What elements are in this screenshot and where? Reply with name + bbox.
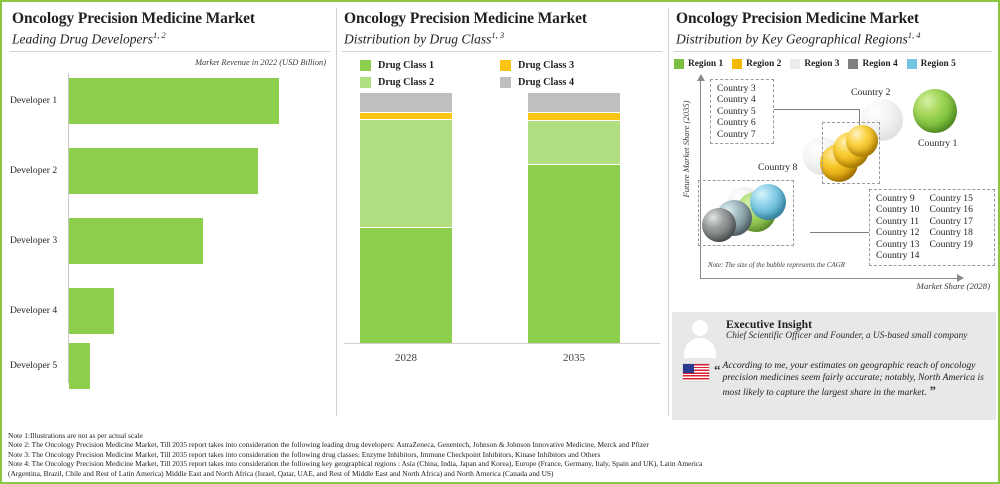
legend-label-drug-class-2: Drug Class 2 xyxy=(378,77,434,88)
bubble-country-1-region-1 xyxy=(913,89,957,133)
slide-root: Oncology Precision Medicine Market Leadi… xyxy=(0,0,1000,484)
legend-label-drug-class-3: Drug Class 3 xyxy=(518,60,574,71)
leader-line-bottom-horizontal xyxy=(810,232,870,233)
legend-label-region-4: Region 4 xyxy=(862,59,897,69)
bar-developer-2 xyxy=(69,148,258,194)
stacked-bar-2028 xyxy=(360,93,452,343)
stacked-bar-chart: 2028 2035 xyxy=(338,94,668,366)
dashbox-lower-cluster xyxy=(698,180,794,246)
executive-insight-subtitle: Chief Scientific Officer and Founder, a … xyxy=(726,331,967,342)
panel1-subtitle-text: Leading Drug Developers xyxy=(12,32,153,47)
avatar-icon xyxy=(680,318,720,358)
executive-insight-title: Executive Insight xyxy=(726,318,967,331)
us-flag-icon xyxy=(682,363,710,382)
bubble-chart-y-axis-label: Future Market Share (2035) xyxy=(681,89,691,209)
footnote-3: Note 3: The Oncology Precision Medicine … xyxy=(8,450,992,459)
executive-insight-text-block: Executive Insight Chief Scientific Offic… xyxy=(726,318,967,358)
dashbox-region-2-cluster xyxy=(822,122,880,184)
leader-line-top-horizontal xyxy=(774,109,860,110)
bubble-label-country-1: Country 1 xyxy=(918,138,957,149)
quote-close-icon: ” xyxy=(929,383,936,398)
segment-2028-drug-class-2 xyxy=(360,120,452,228)
legend-item-region-1[interactable]: Region 1 xyxy=(674,59,723,69)
footnotes: Note 1:Illustrations are not as per actu… xyxy=(8,431,992,478)
callout-line-country-7: Country 7 xyxy=(717,129,767,141)
stacked-bar-2035 xyxy=(528,93,620,343)
quote-open-icon: “ xyxy=(714,362,721,399)
panel-leading-drug-developers: Oncology Precision Medicine Market Leadi… xyxy=(6,6,336,418)
bar-developer-5 xyxy=(69,343,90,389)
legend-item-drug-class-4[interactable]: Drug Class 4 xyxy=(500,77,640,88)
panel3-subtitle: Distribution by Key Geographical Regions… xyxy=(676,28,998,47)
panel1-title: Oncology Precision Medicine Market xyxy=(12,10,336,27)
callout-column-left: Country 9 Country 10 Country 11 Country … xyxy=(876,193,919,263)
legend-swatch-icon-drug-class-2 xyxy=(360,77,371,88)
panel3-subtitle-superscript: 1, 4 xyxy=(908,30,921,40)
legend-item-region-5[interactable]: Region 5 xyxy=(907,59,956,69)
bar-chart-axis-note: Market Revenue in 2022 (USD Billion) xyxy=(195,58,326,67)
avatar-head-shape xyxy=(692,320,708,336)
panel3-subtitle-text: Distribution by Key Geographical Regions xyxy=(676,32,908,47)
bar-developer-4 xyxy=(69,288,114,334)
panel3-title: Oncology Precision Medicine Market xyxy=(676,10,998,27)
callout-line-country-10: Country 10 xyxy=(876,204,919,216)
legend-swatch-icon-region-4 xyxy=(848,59,858,69)
legend-label-region-5: Region 5 xyxy=(921,59,956,69)
callout-line-country-9: Country 9 xyxy=(876,193,919,205)
legend-swatch-icon-drug-class-3 xyxy=(500,60,511,71)
callout-line-country-13: Country 13 xyxy=(876,239,919,251)
callout-line-country-12: Country 12 xyxy=(876,227,919,239)
avatar-body-shape xyxy=(684,338,716,358)
legend-row-2: Drug Class 2 Drug Class 4 xyxy=(360,77,650,88)
legend-row-1: Drug Class 1 Drug Class 3 xyxy=(360,60,650,71)
bubble-chart-regions: Future Market Share (2035) Market Share … xyxy=(670,72,998,300)
callout-line-country-16: Country 16 xyxy=(929,204,972,216)
panel2-rule xyxy=(342,51,662,52)
bar-label-developer-4: Developer 4 xyxy=(10,288,66,334)
legend-swatch-icon-drug-class-1 xyxy=(360,60,371,71)
legend-item-region-2[interactable]: Region 2 xyxy=(732,59,781,69)
x-label-2028: 2028 xyxy=(360,352,452,364)
panel1-rule xyxy=(10,51,330,52)
executive-insight-quote-row: “ According to me, your estimates on geo… xyxy=(672,358,996,399)
callout-column-right: Country 15 Country 16 Country 17 Country… xyxy=(929,193,972,263)
legend-item-drug-class-3[interactable]: Drug Class 3 xyxy=(500,60,640,71)
legend-label-region-1: Region 1 xyxy=(688,59,723,69)
stacked-chart-baseline xyxy=(344,343,660,344)
panel1-subtitle-superscript: 1, 2 xyxy=(153,30,166,40)
bar-label-developer-5: Developer 5 xyxy=(10,343,66,389)
segment-2028-drug-class-3 xyxy=(360,113,452,120)
bubble-label-country-8: Country 8 xyxy=(758,162,797,173)
panel1-subtitle: Leading Drug Developers1, 2 xyxy=(12,28,336,47)
bar-chart-developers: Market Revenue in 2022 (USD Billion) Dev… xyxy=(6,56,336,386)
panel-distribution-by-drug-class: Oncology Precision Medicine Market Distr… xyxy=(338,6,668,418)
executive-insight-panel: Executive Insight Chief Scientific Offic… xyxy=(672,312,996,420)
panel3-rule xyxy=(674,51,992,52)
legend-item-drug-class-2[interactable]: Drug Class 2 xyxy=(360,77,500,88)
callout-line-country-5: Country 5 xyxy=(717,106,767,118)
footnote-4: Note 4: The Oncology Precision Medicine … xyxy=(8,459,992,468)
bubble-chart-x-axis-label: Market Share (2028) xyxy=(917,281,990,291)
legend-swatch-icon-region-2 xyxy=(732,59,742,69)
callout-countries-9-19: Country 9 Country 10 Country 11 Country … xyxy=(869,189,995,267)
legend-label-drug-class-1: Drug Class 1 xyxy=(378,60,434,71)
panel2-title: Oncology Precision Medicine Market xyxy=(344,10,668,27)
bubble-label-country-2: Country 2 xyxy=(851,87,890,98)
quote-body: According to me, your estimates on geogr… xyxy=(723,360,984,398)
segment-2028-drug-class-4 xyxy=(360,93,452,113)
panel2-subtitle-text: Distribution by Drug Class xyxy=(344,32,491,47)
footnote-1: Note 1:Illustrations are not as per actu… xyxy=(8,431,992,440)
bar-developer-3 xyxy=(69,218,203,264)
executive-insight-quote: According to me, your estimates on geogr… xyxy=(723,360,989,399)
legend-swatch-icon-region-5 xyxy=(907,59,917,69)
footnote-2: Note 2: The Oncology Precision Medicine … xyxy=(8,440,992,449)
callout-line-country-11: Country 11 xyxy=(876,216,919,228)
legend-label-region-2: Region 2 xyxy=(746,59,781,69)
callout-line-country-18: Country 18 xyxy=(929,227,972,239)
segment-2035-drug-class-2 xyxy=(528,121,620,165)
column-divider-2 xyxy=(668,8,669,416)
bubble-chart-x-axis xyxy=(700,278,958,279)
legend-item-drug-class-1[interactable]: Drug Class 1 xyxy=(360,60,500,71)
legend-label-region-3: Region 3 xyxy=(804,59,839,69)
drug-class-legend: Drug Class 1 Drug Class 3 Drug Class 2 D… xyxy=(360,60,650,88)
panel2-subtitle-superscript: 1, 3 xyxy=(491,30,504,40)
bar-label-developer-3: Developer 3 xyxy=(10,218,66,264)
callout-line-country-3: Country 3 xyxy=(717,83,767,95)
legend-item-region-3[interactable]: Region 3 xyxy=(790,59,839,69)
legend-label-drug-class-4: Drug Class 4 xyxy=(518,77,574,88)
bar-label-developer-1: Developer 1 xyxy=(10,78,66,124)
bubble-chart-note: Note: The size of the bubble represents … xyxy=(708,262,845,269)
segment-2035-drug-class-1 xyxy=(528,165,620,343)
segment-2035-drug-class-4 xyxy=(528,93,620,113)
callout-line-country-6: Country 6 xyxy=(717,117,767,129)
flag-canton xyxy=(683,364,694,373)
legend-swatch-icon-region-1 xyxy=(674,59,684,69)
footnote-4-continued: (Argentina, Brazil, Chile and Rest of La… xyxy=(8,469,992,478)
x-label-2035: 2035 xyxy=(528,352,620,364)
segment-2028-drug-class-1 xyxy=(360,228,452,343)
segment-2035-drug-class-3 xyxy=(528,113,620,121)
legend-item-region-4[interactable]: Region 4 xyxy=(848,59,897,69)
legend-swatch-icon-region-3 xyxy=(790,59,800,69)
callout-line-country-15: Country 15 xyxy=(929,193,972,205)
bar-label-developer-2: Developer 2 xyxy=(10,148,66,194)
region-legend: Region 1 Region 2 Region 3 Region 4 Regi… xyxy=(674,59,998,69)
panel2-subtitle: Distribution by Drug Class1, 3 xyxy=(344,28,668,47)
callout-line-country-4: Country 4 xyxy=(717,94,767,106)
callout-countries-3-7: Country 3 Country 4 Country 5 Country 6 … xyxy=(710,79,774,145)
bubble-chart-y-axis xyxy=(700,80,701,278)
bar-developer-1 xyxy=(69,78,279,124)
column-divider-1 xyxy=(336,8,337,416)
callout-line-country-19: Country 19 xyxy=(929,239,972,251)
legend-swatch-icon-drug-class-4 xyxy=(500,77,511,88)
executive-insight-header: Executive Insight Chief Scientific Offic… xyxy=(672,312,996,358)
callout-line-country-14: Country 14 xyxy=(876,250,919,262)
callout-line-country-17: Country 17 xyxy=(929,216,972,228)
